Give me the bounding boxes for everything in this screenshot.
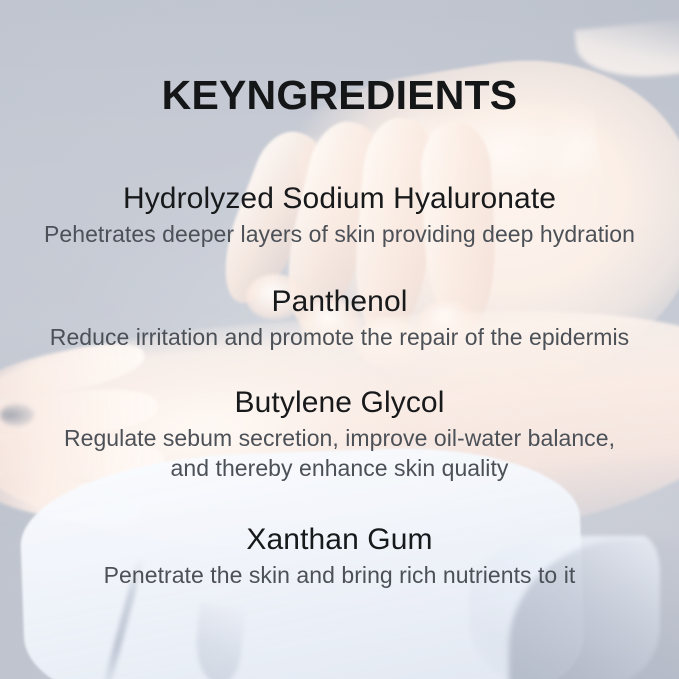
key-ingredients-poster: KEYNGREDIENTS Hydrolyzed Sodium Hyaluron…: [0, 0, 679, 679]
ingredient-item-panthenol: Panthenol Reduce irritation and promote …: [0, 283, 679, 352]
ingredient-description: Pehetrates deeper layers of skin providi…: [0, 219, 679, 249]
ingredient-description-line: Regulate sebum secretion, improve oil-wa…: [0, 423, 679, 453]
ingredient-description-line: Reduce irritation and promote the repair…: [0, 322, 679, 352]
ingredient-description-line: and thereby enhance skin quality: [0, 453, 679, 483]
page-title: KEYNGREDIENTS: [0, 74, 679, 117]
ingredient-description-line: Pehetrates deeper layers of skin providi…: [0, 219, 679, 249]
ingredient-item-butylene-glycol: Butylene Glycol Regulate sebum secretion…: [0, 384, 679, 484]
ingredient-description-line: Penetrate the skin and bring rich nutrie…: [0, 560, 679, 590]
ingredient-name: Xanthan Gum: [0, 521, 679, 559]
poster-content: KEYNGREDIENTS Hydrolyzed Sodium Hyaluron…: [0, 0, 679, 679]
ingredient-description: Regulate sebum secretion, improve oil-wa…: [0, 423, 679, 484]
ingredient-description: Penetrate the skin and bring rich nutrie…: [0, 560, 679, 590]
ingredient-name: Hydrolyzed Sodium Hyaluronate: [0, 180, 679, 218]
ingredient-name: Panthenol: [0, 283, 679, 321]
ingredient-item-hydrolyzed-sodium-hyaluronate: Hydrolyzed Sodium Hyaluronate Pehetrates…: [0, 180, 679, 249]
ingredient-description: Reduce irritation and promote the repair…: [0, 322, 679, 352]
ingredient-name: Butylene Glycol: [0, 384, 679, 422]
ingredient-item-xanthan-gum: Xanthan Gum Penetrate the skin and bring…: [0, 521, 679, 590]
